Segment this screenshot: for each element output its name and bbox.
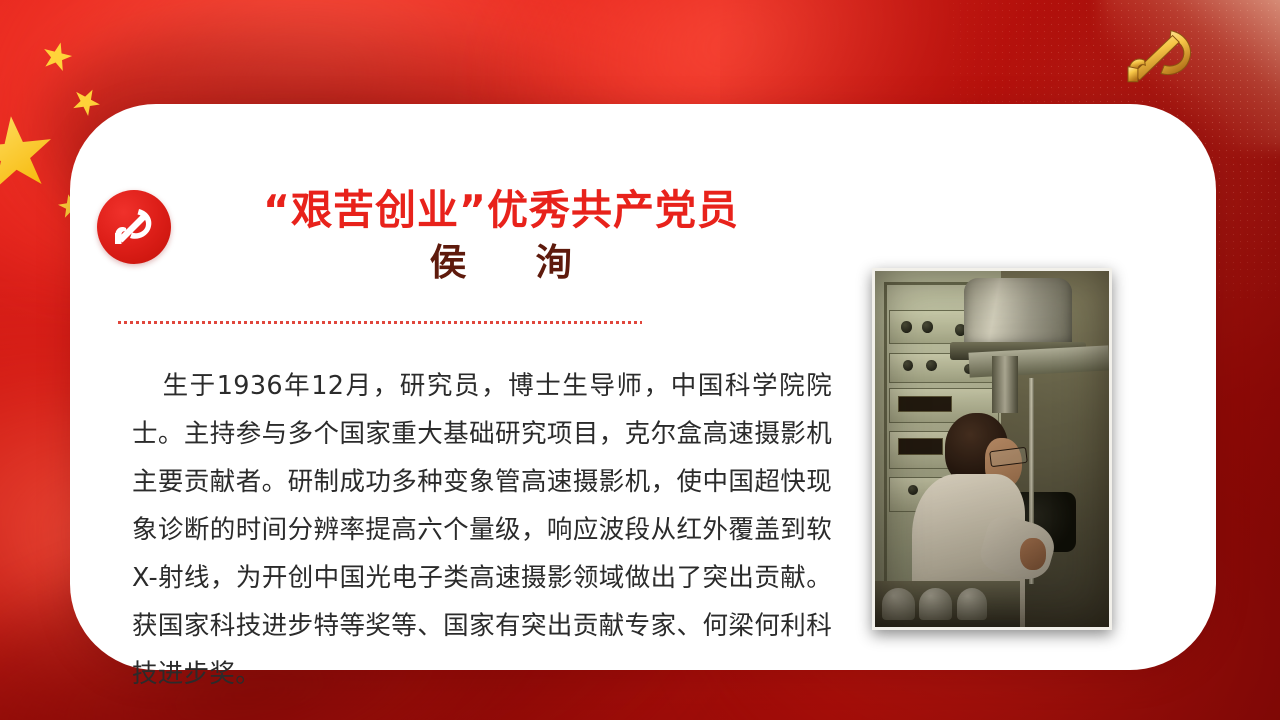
hammer-sickle-icon <box>109 202 159 252</box>
slide-root: “艰苦创业”优秀共产党员 侯 洵 生于1936年12月，研究员，博士生导师，中国… <box>0 0 1280 720</box>
photo-vignette <box>875 271 1109 627</box>
person-name: 侯 洵 <box>188 240 814 284</box>
photo-image <box>875 271 1109 627</box>
page-title: “艰苦创业”优秀共产党员 <box>188 188 814 234</box>
dotted-divider <box>118 321 642 324</box>
portrait-photo <box>872 268 1112 630</box>
party-badge <box>97 190 171 264</box>
title-block: “艰苦创业”优秀共产党员 侯 洵 <box>188 188 814 284</box>
biography-text: 生于1936年12月，研究员，博士生导师，中国科学院院士。主持参与多个国家重大基… <box>132 362 832 698</box>
content-card: “艰苦创业”优秀共产党员 侯 洵 生于1936年12月，研究员，博士生导师，中国… <box>70 104 1216 670</box>
